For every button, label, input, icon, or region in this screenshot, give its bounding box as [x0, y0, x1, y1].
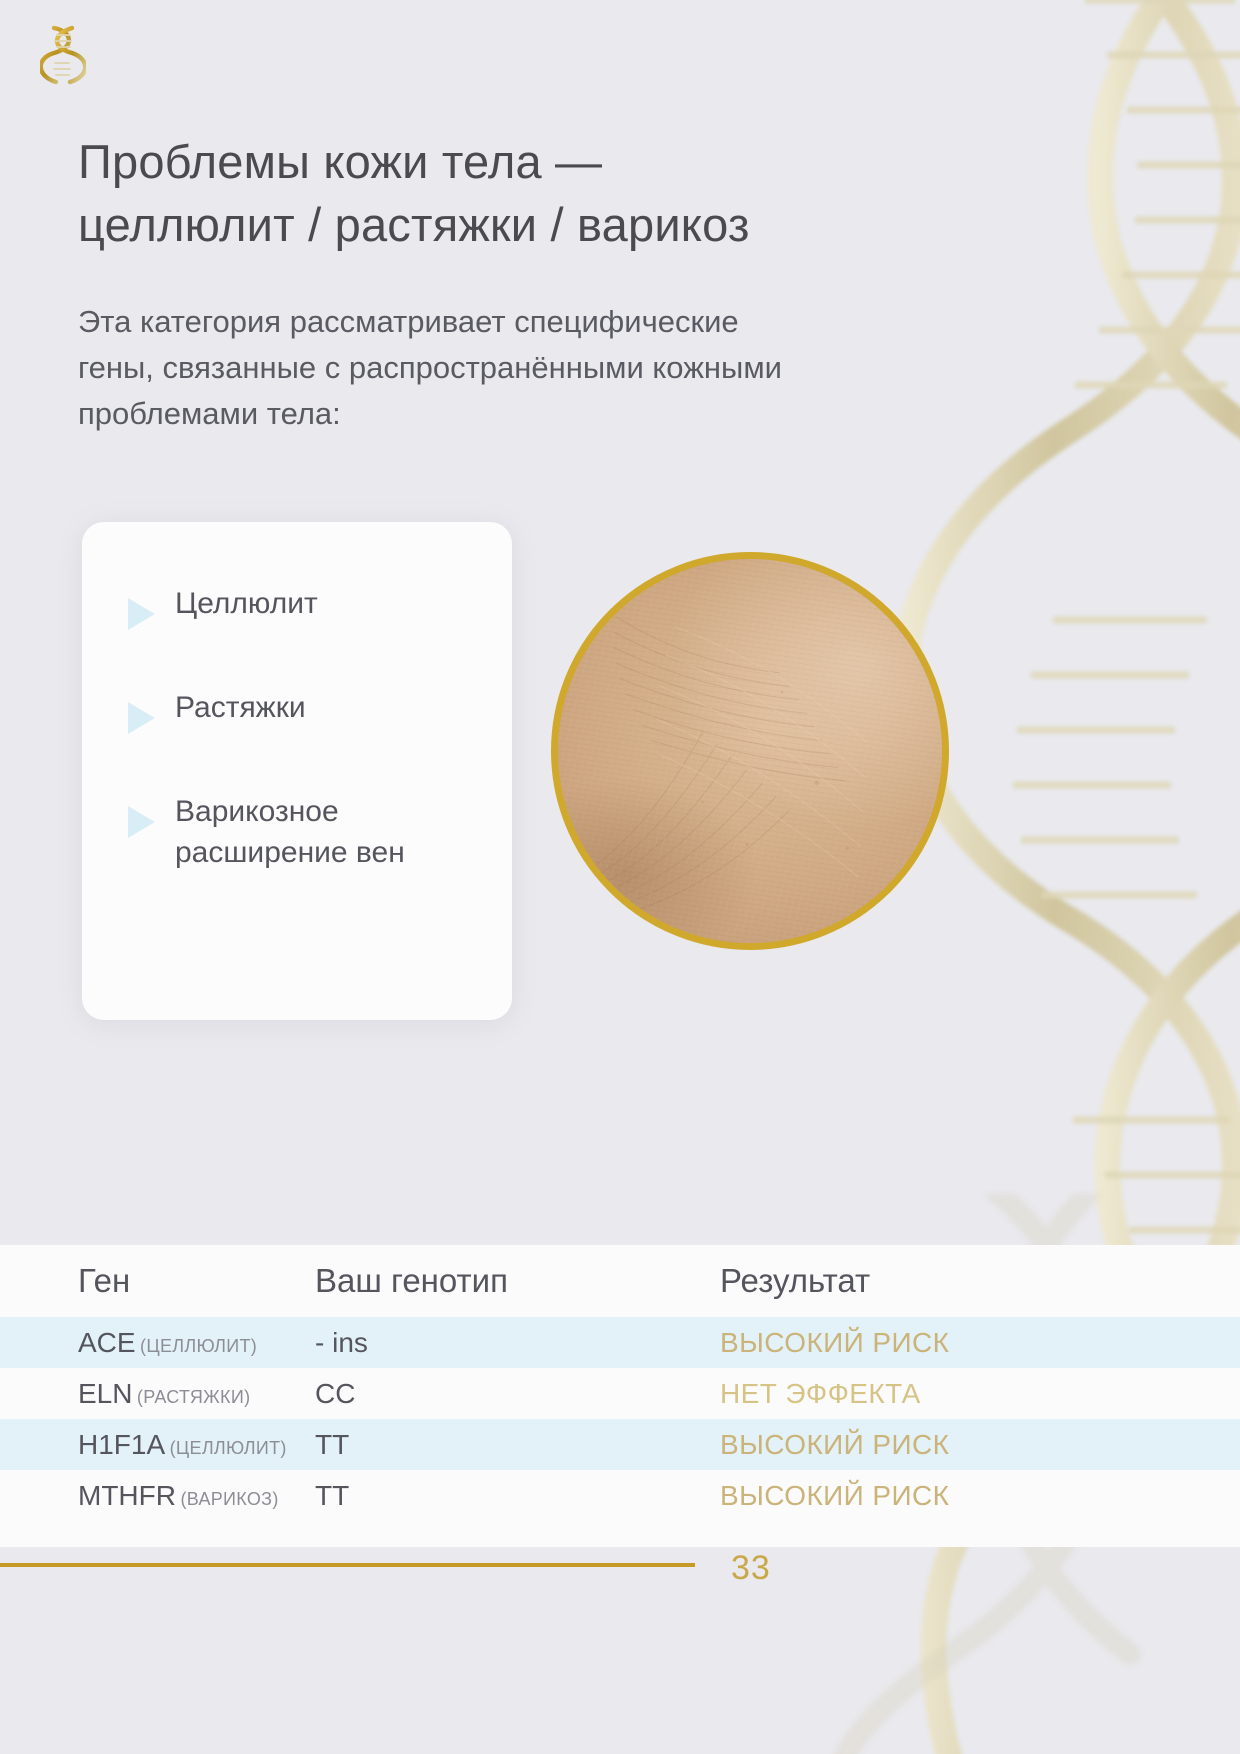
column-header-genotype: Ваш генотип	[315, 1262, 720, 1300]
cell-result: ВЫСОКИЙ РИСК	[720, 1429, 1240, 1461]
cell-gene: ACE (ЦЕЛЛЮЛИТ)	[0, 1327, 315, 1359]
cell-genotype: TT	[315, 1480, 720, 1512]
page-number: 33	[731, 1549, 771, 1588]
table-header-row: Ген Ваш генотип Результат	[0, 1245, 1240, 1317]
page-title: Проблемы кожи тела — целлюлит / растяжки…	[78, 131, 958, 255]
gene-tag: (РАСТЯЖКИ)	[137, 1387, 250, 1407]
cell-gene: ELN (РАСТЯЖКИ)	[0, 1378, 315, 1410]
page-title-line1: Проблемы кожи тела —	[78, 135, 602, 188]
cell-gene: MTHFR (ВАРИКОЗ)	[0, 1480, 315, 1512]
cell-genotype: TT	[315, 1429, 720, 1461]
cell-genotype: - ins	[315, 1327, 720, 1359]
cell-genotype: CC	[315, 1378, 720, 1410]
cell-result: ВЫСОКИЙ РИСК	[720, 1480, 1240, 1512]
report-page: Проблемы кожи тела — целлюлит / растяжки…	[0, 0, 1240, 1754]
gene-tag: (ВАРИКОЗ)	[180, 1489, 278, 1509]
list-item: Варикозное расширение вен	[108, 792, 484, 873]
gene-tag: (ЦЕЛЛЮЛИТ)	[140, 1336, 257, 1356]
column-header-result: Результат	[720, 1262, 1240, 1300]
genes-table: Ген Ваш генотип Результат ACE (ЦЕЛЛЮЛИТ)…	[0, 1245, 1240, 1547]
conditions-card: Целлюлит Растяжки Варикозное расширение …	[82, 522, 512, 1020]
cell-result: НЕТ ЭФФЕКТА	[720, 1378, 1240, 1410]
list-item: Целлюлит	[108, 584, 484, 630]
list-item-label: Целлюлит	[175, 584, 318, 625]
cell-gene: H1F1A (ЦЕЛЛЮЛИТ)	[0, 1429, 315, 1461]
page-title-line2: целлюлит / растяжки / варикоз	[78, 194, 958, 256]
list-item-label: Растяжки	[175, 688, 306, 729]
gene-name: ELN	[78, 1378, 132, 1409]
skin-closeup-photo	[551, 552, 949, 950]
column-header-gene: Ген	[0, 1262, 315, 1300]
dna-helix-icon	[40, 22, 86, 88]
table-bottom-padding	[0, 1521, 1240, 1547]
conditions-list: Целлюлит Растяжки Варикозное расширение …	[82, 522, 512, 1020]
gene-name: ACE	[78, 1327, 136, 1358]
table-row: H1F1A (ЦЕЛЛЮЛИТ) TT ВЫСОКИЙ РИСК	[0, 1419, 1240, 1470]
triangle-right-icon	[128, 598, 155, 630]
list-item-label: Варикозное расширение вен	[175, 792, 484, 873]
triangle-right-icon	[128, 702, 155, 734]
cell-result: ВЫСОКИЙ РИСК	[720, 1327, 1240, 1359]
list-item: Растяжки	[108, 688, 484, 734]
gene-name: MTHFR	[78, 1480, 176, 1511]
skin-grain-overlay	[558, 559, 942, 943]
gene-tag: (ЦЕЛЛЮЛИТ)	[170, 1438, 287, 1458]
table-row: MTHFR (ВАРИКОЗ) TT ВЫСОКИЙ РИСК	[0, 1470, 1240, 1521]
skin-photo-image	[558, 559, 942, 943]
footer-rule	[0, 1563, 695, 1567]
triangle-right-icon	[128, 806, 155, 838]
table-row: ELN (РАСТЯЖКИ) CC НЕТ ЭФФЕКТА	[0, 1368, 1240, 1419]
table-row: ACE (ЦЕЛЛЮЛИТ) - ins ВЫСОКИЙ РИСК	[0, 1317, 1240, 1368]
gene-name: H1F1A	[78, 1429, 165, 1460]
page-subtitle: Эта категория рассматривает специфически…	[78, 299, 818, 437]
